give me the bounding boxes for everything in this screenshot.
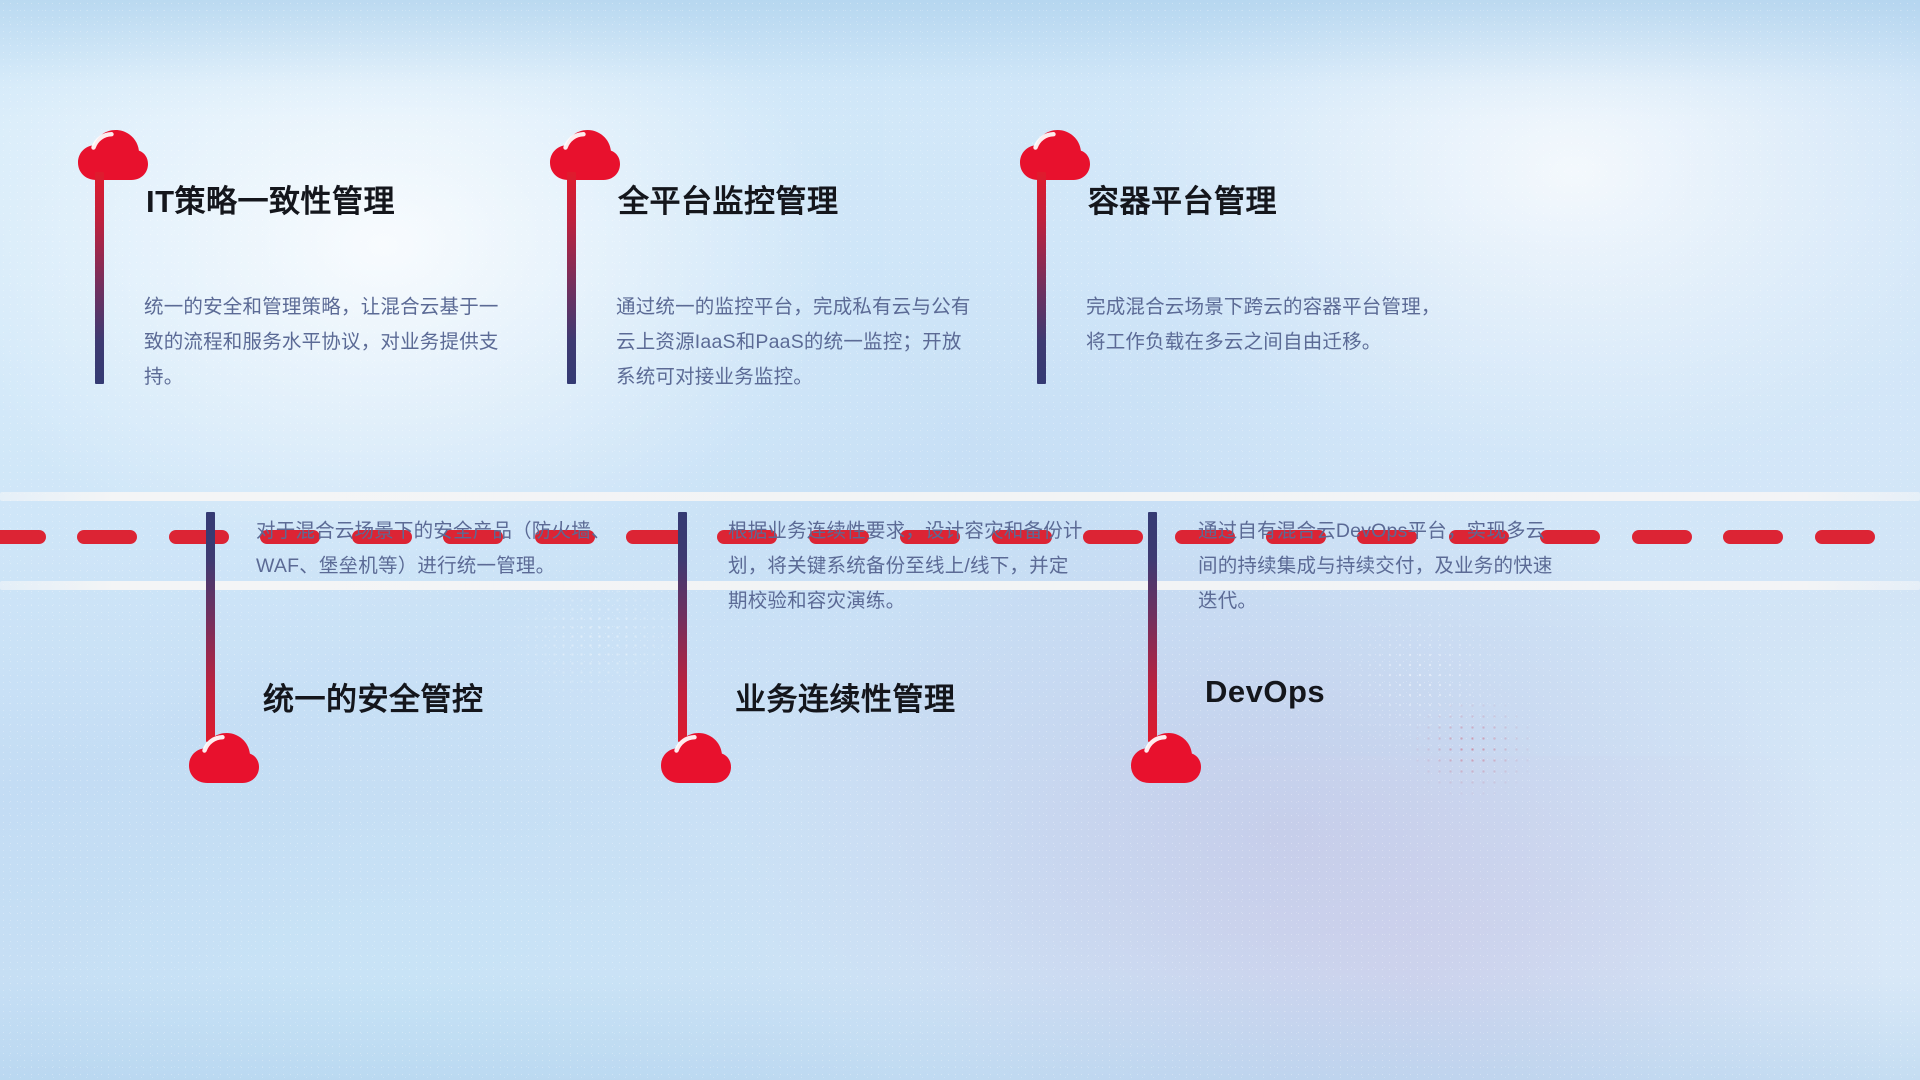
cloud-pin-icon [76,128,150,182]
bottom-column-2-body: 根据业务连续性要求，设计容灾和备份计划，将关键系统备份至线上/线下，并定期校验和… [728,514,1088,619]
road-dash-segment [1632,530,1692,544]
pin-stem [95,172,104,384]
pin-stem [678,512,687,742]
road-edge-line-top [0,492,1920,501]
pin-stem [206,512,215,742]
top-column-1-body: 统一的安全和管理策略，让混合云基于一致的流程和服务水平协议，对业务提供支持。 [144,290,504,395]
top-column-1-title: IT策略一致性管理 [146,176,395,221]
cloud-pin-icon [1018,128,1092,182]
top-column-3-body: 完成混合云场景下跨云的容器平台管理，将工作负载在多云之间自由迁移。 [1086,290,1446,360]
road-dash-segment [1723,530,1783,544]
road-dash-segment [0,530,46,544]
cloud-pin-icon [1129,731,1203,785]
bottom-column-3-body: 通过自有混合云DevOps平台，实现多云间的持续集成与持续交付，及业务的快速迭代… [1198,514,1558,619]
road-dash-segment [626,530,686,544]
road-dash-segment [1083,530,1143,544]
top-column-2-title: 全平台监控管理 [618,176,839,221]
bottom-column-2-title: 业务连续性管理 [735,674,956,719]
road-dash-segment [77,530,137,544]
bottom-column-1-title: 统一的安全管控 [263,674,484,719]
pin-stem [567,172,576,384]
pin-stem [1148,512,1157,742]
cloud-pin-icon [659,731,733,785]
top-column-3-title: 容器平台管理 [1088,176,1277,221]
road-dash-segment [169,530,229,544]
road-dash-segment [1815,530,1875,544]
cloud-pin-icon [187,731,261,785]
cloud-pin-icon [548,128,622,182]
decorative-red-dot-cluster [1412,700,1532,795]
top-column-2-body: 通过统一的监控平台，完成私有云与公有云上资源IaaS和PaaS的统一监控；开放系… [616,290,976,395]
pin-stem [1037,172,1046,384]
bottom-column-3-title: DevOps [1205,674,1325,710]
bottom-column-1-body: 对于混合云场景下的安全产品（防火墙、WAF、堡垒机等）进行统一管理。 [256,514,616,584]
